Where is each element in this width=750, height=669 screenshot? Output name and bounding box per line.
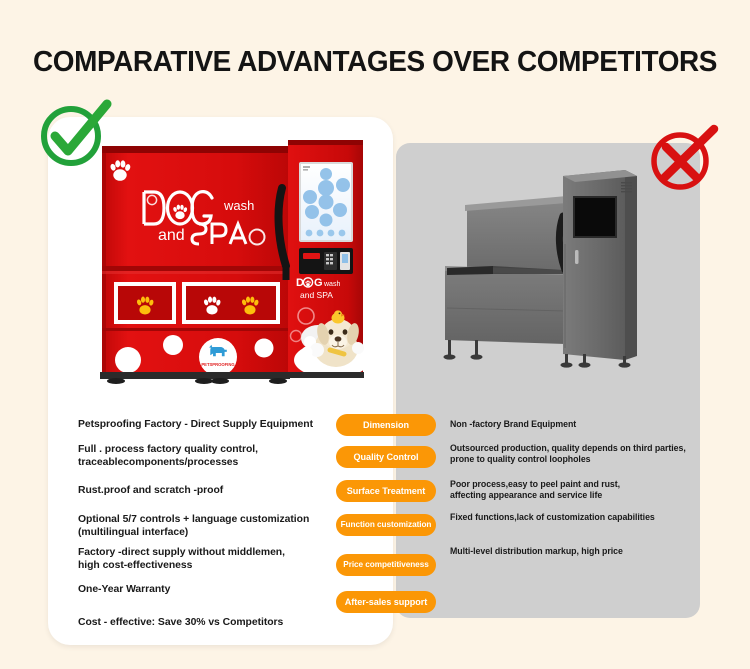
pill-function-customization[interactable]: Function customization bbox=[336, 514, 436, 536]
green-check-circle-icon bbox=[37, 98, 113, 172]
disadvantage-item-4: Fixed functions,lack of customization ca… bbox=[450, 512, 700, 523]
advantage-item-2: Full . process factory quality control, … bbox=[78, 443, 336, 469]
pill-dimension[interactable]: Dimension bbox=[336, 414, 436, 436]
red-x-circle-icon bbox=[648, 123, 720, 195]
pill-quality-control[interactable]: Quality Control bbox=[336, 446, 436, 468]
advantage-item-4: Optional 5/7 controls + language customi… bbox=[78, 513, 336, 539]
advantage-item-3: Rust.proof and scratch -proof bbox=[78, 484, 336, 497]
advantage-item-7: Cost - effective: Save 30% vs Competitor… bbox=[78, 616, 336, 629]
advantage-item-1: Petsproofing Factory - Direct Supply Equ… bbox=[78, 418, 336, 431]
comparison-infographic: COMPARATIVE ADVANTAGES OVER COMPETITORS bbox=[0, 0, 750, 669]
disadvantage-item-1: Non -factory Brand Equipment bbox=[450, 419, 700, 430]
pill-surface-treatment[interactable]: Surface Treatment bbox=[336, 480, 436, 502]
advantage-item-5: Factory -direct supply without middlemen… bbox=[78, 546, 336, 572]
pill-price-competitiveness[interactable]: Price competitiveness bbox=[336, 554, 436, 576]
disadvantage-item-2: Outsourced production, quality depends o… bbox=[450, 443, 700, 466]
advantage-item-6: One-Year Warranty bbox=[78, 583, 336, 596]
pill-after-sales-support[interactable]: After-sales support bbox=[336, 591, 436, 613]
disadvantage-item-3: Poor process,easy to peel paint and rust… bbox=[450, 479, 700, 502]
disadvantage-item-5: Multi-level distribution markup, high pr… bbox=[450, 546, 700, 557]
